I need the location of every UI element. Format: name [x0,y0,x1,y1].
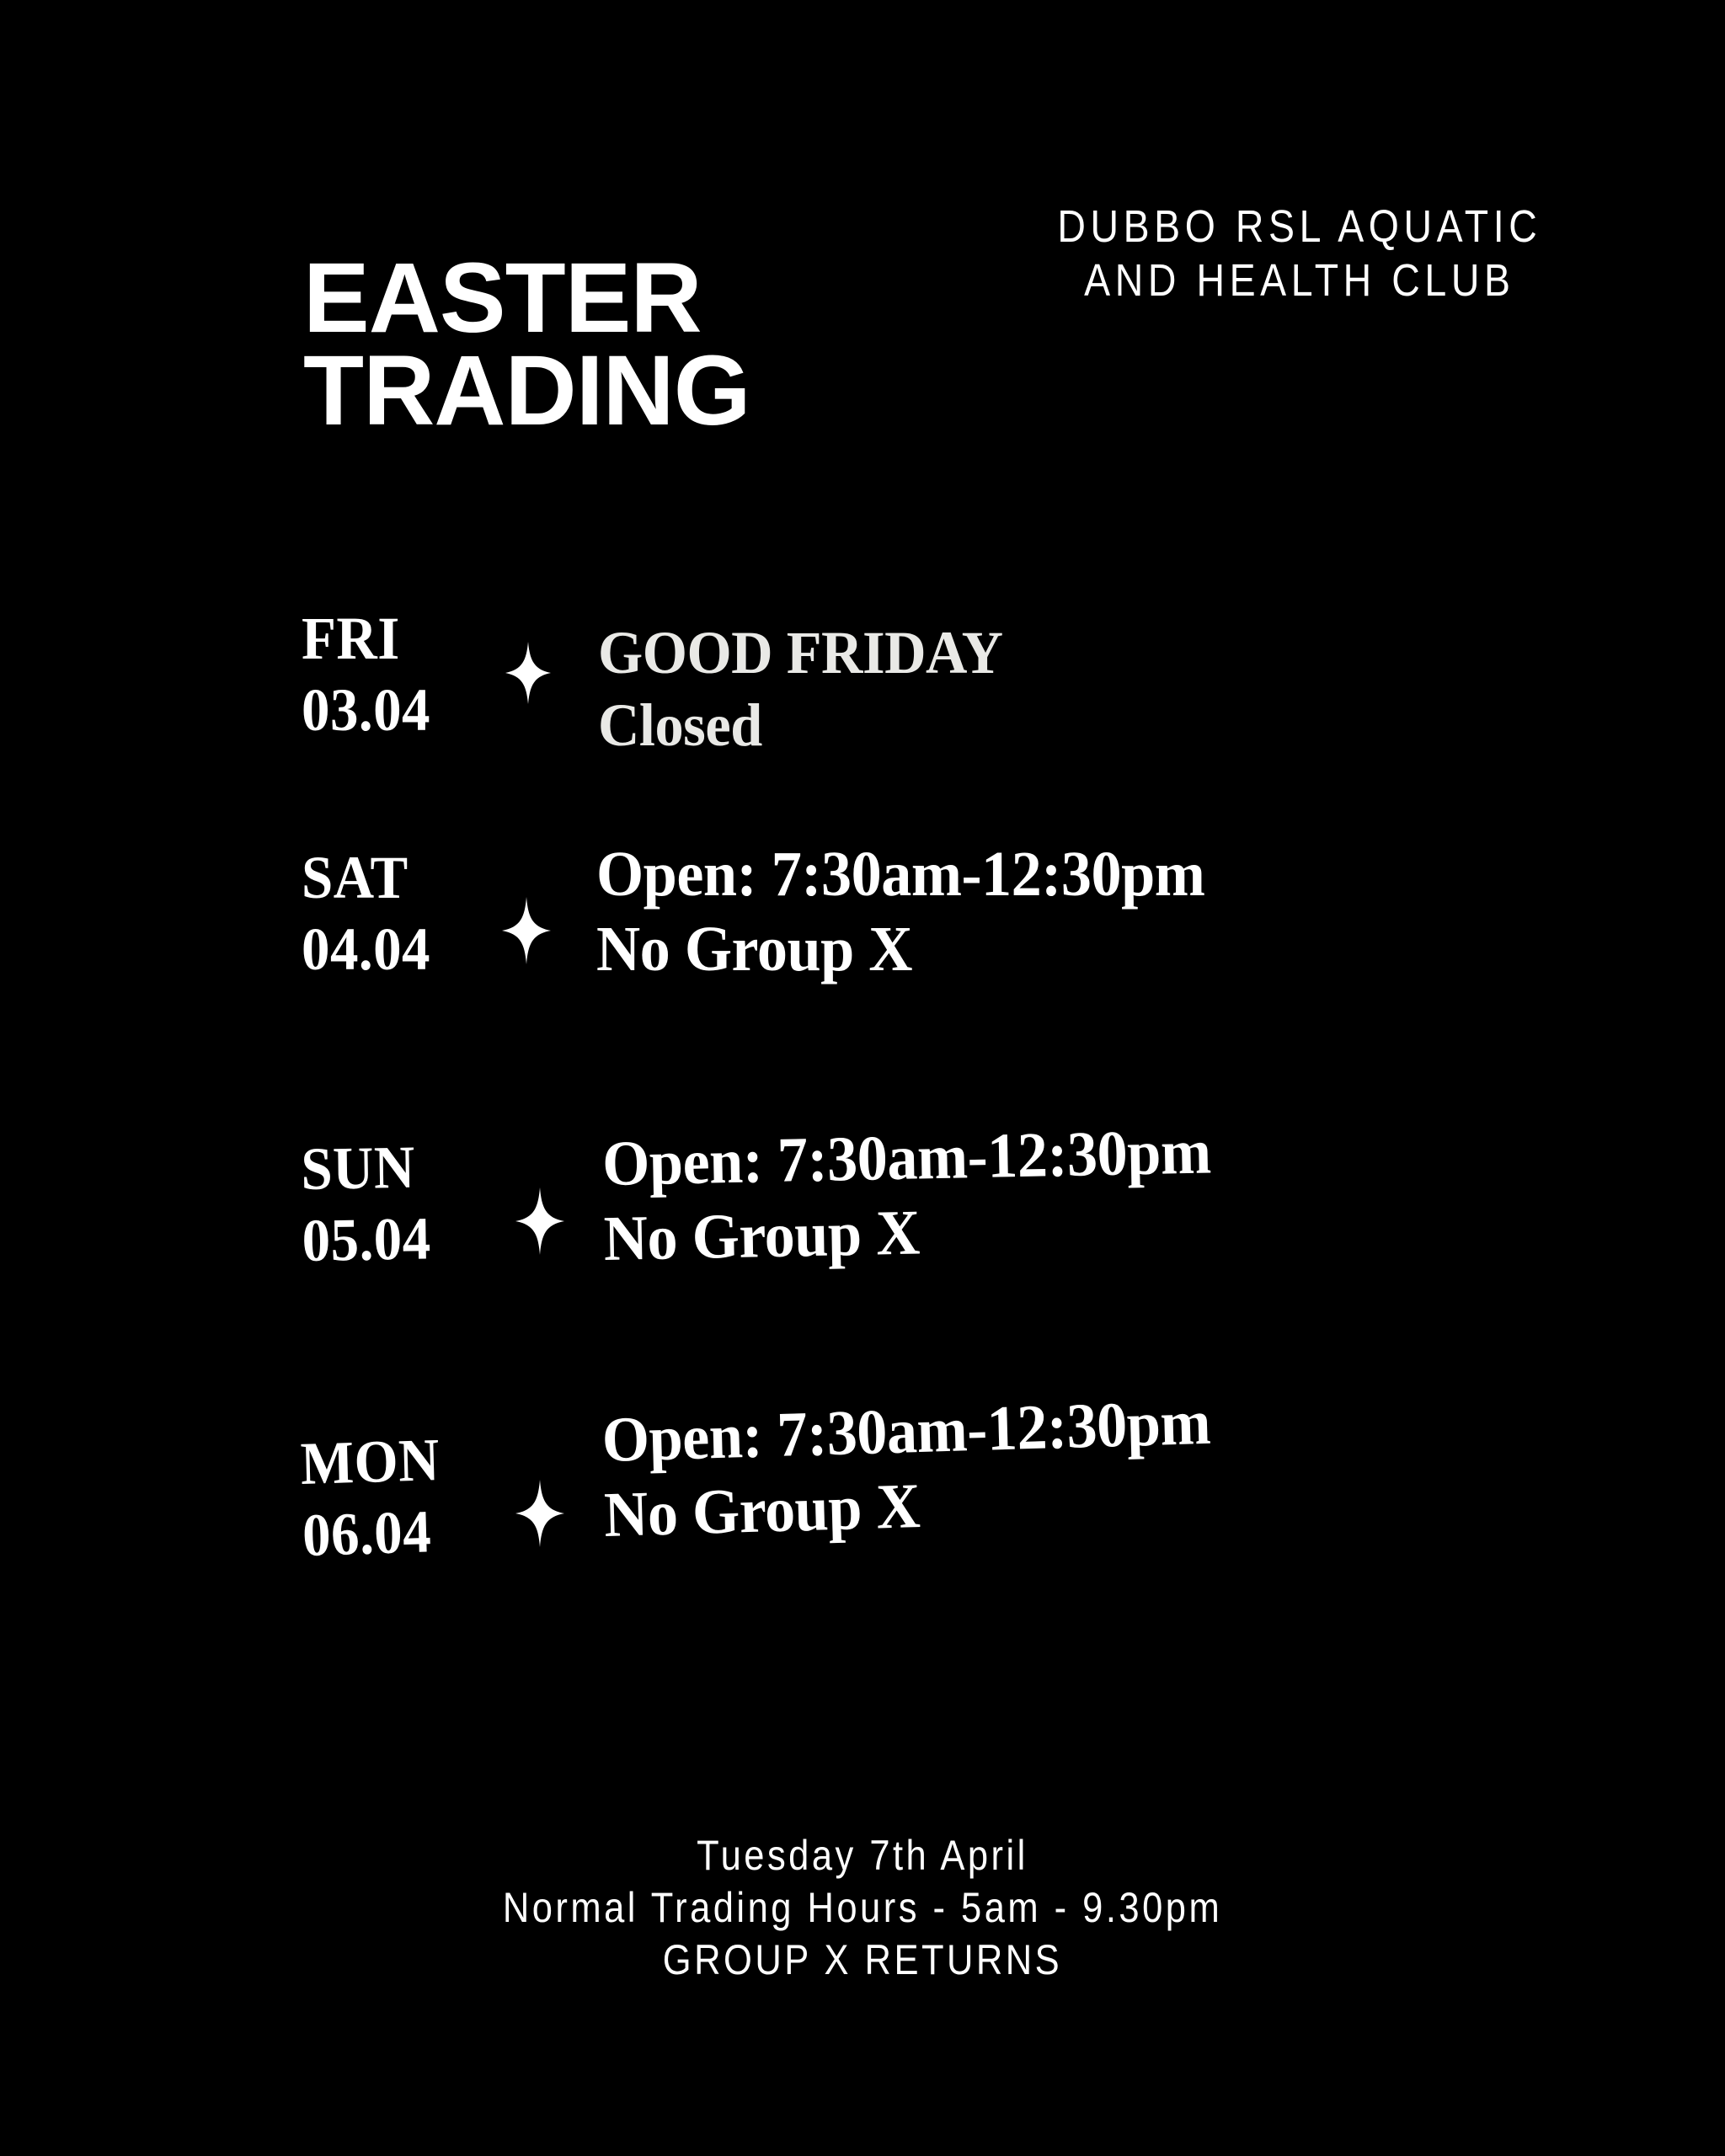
day-name-3: MON [300,1424,441,1500]
day-name-0: FRI [302,603,430,675]
day-name-1: SAT [302,842,430,914]
detail-line-1-1: No Group X [596,912,1204,987]
easter-trading-poster: DUBBO RSL AQUATIC AND HEALTH CLUB EASTER… [0,0,1725,2156]
schedule-day-2: SUN 05.04 [301,1131,431,1276]
sparkle-icon [502,897,551,964]
day-name-2: SUN [301,1131,430,1205]
schedule-detail-0: GOOD FRIDAY Closed [598,616,1003,762]
day-date-0: 03.04 [302,675,430,746]
day-date-3: 06.04 [302,1496,442,1572]
schedule-detail-2: Open: 7:30am-12:30pm No Group X [601,1114,1213,1276]
sparkle-icon [515,1187,564,1255]
footer-line-1: Tuesday 7th April [112,1829,1613,1881]
footer-note: Tuesday 7th April Normal Trading Hours -… [112,1829,1613,1986]
schedule-detail-1: Open: 7:30am-12:30pm No Group X [596,837,1204,987]
sparkle-icon [505,642,551,704]
detail-line-2-0: Open: 7:30am-12:30pm [601,1114,1211,1201]
schedule-day-0: FRI 03.04 [302,603,430,746]
day-date-2: 05.04 [302,1203,431,1277]
footer-line-2: Normal Trading Hours - 5am - 9.30pm [112,1881,1613,1934]
detail-line-0-1: Closed [598,689,1003,761]
detail-line-1-0: Open: 7:30am-12:30pm [596,837,1204,912]
sparkle-icon [515,1480,564,1547]
schedule-detail-3: Open: 7:30am-12:30pm No Group X [601,1385,1214,1553]
detail-line-0-0: GOOD FRIDAY [598,616,1003,689]
footer-line-3: GROUP X RETURNS [112,1934,1613,1986]
detail-line-2-1: No Group X [603,1189,1213,1276]
schedule-day-1: SAT 04.04 [302,842,430,985]
day-date-1: 04.04 [302,914,430,985]
schedule-day-3: MON 06.04 [300,1424,442,1572]
